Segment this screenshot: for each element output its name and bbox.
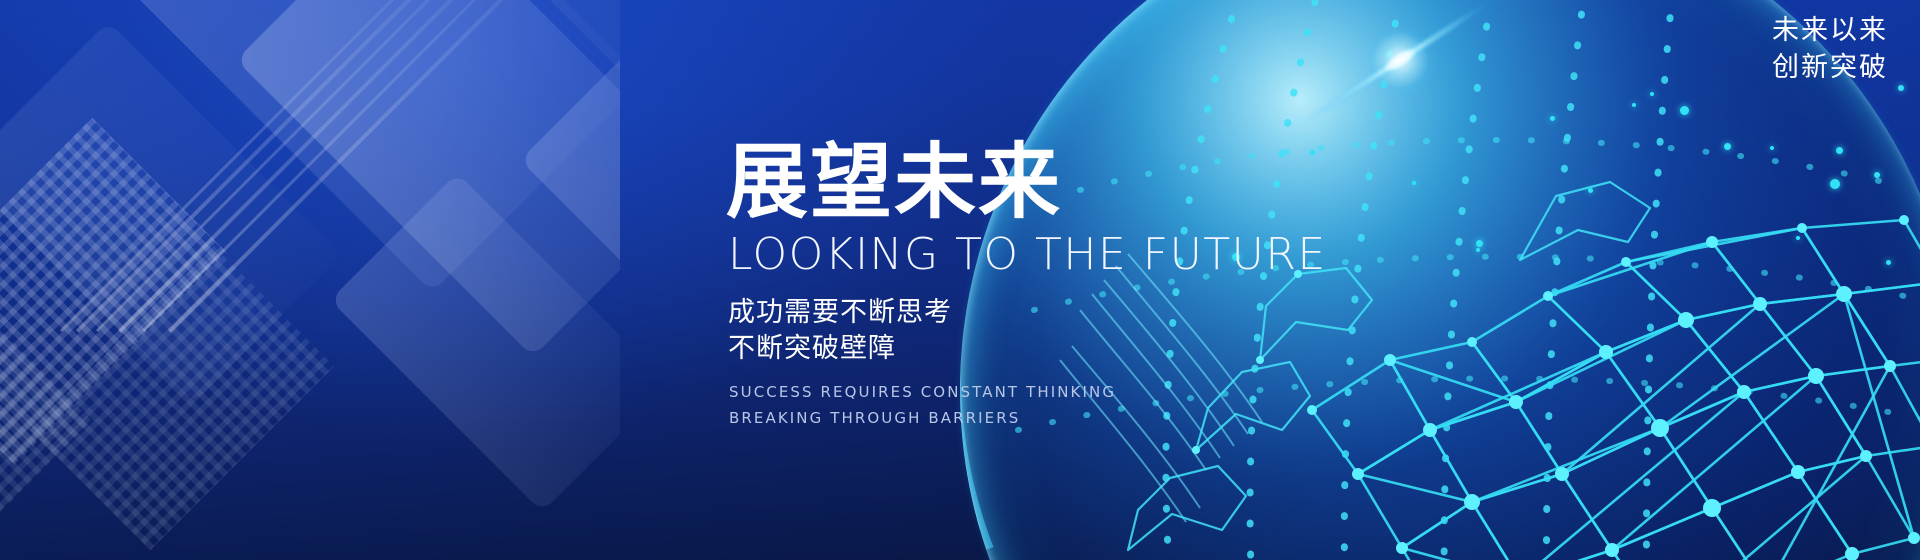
particle (1796, 236, 1800, 240)
geo-plate (236, 0, 620, 357)
description-chinese-line-1: 成功需要不断思考 (728, 294, 1486, 330)
diagonal-geometric-pattern (0, 0, 620, 560)
subtitle-english: LOOKING TO THE FUTURE (728, 231, 1486, 279)
particle (1836, 147, 1843, 154)
description-chinese-line-2: 不断突破壁障 (728, 330, 1486, 366)
hero-banner: 展望未来 LOOKING TO THE FUTURE 成功需要不断思考 不断突破… (0, 0, 1920, 560)
geo-bar (96, 0, 466, 332)
geo-bar (76, 0, 447, 333)
particle (1898, 85, 1904, 91)
corner-tagline-line-2: 创新突破 (1772, 49, 1888, 86)
particle (1680, 106, 1689, 115)
geo-plate (430, 0, 620, 135)
geo-plate (520, 12, 620, 415)
particle (1650, 92, 1654, 96)
geo-bar (168, 0, 539, 333)
geo-bar (118, 0, 489, 333)
particle (1886, 260, 1891, 265)
description-english-line-2: BREAKING THROUGH BARRIERS (729, 405, 1486, 431)
particle (1874, 172, 1880, 178)
geo-layer (0, 0, 620, 560)
geo-dot-grid (0, 118, 226, 464)
particle (1830, 179, 1840, 189)
particle (1632, 103, 1636, 107)
globe-flare-core (1371, 36, 1428, 84)
corner-tagline-line-1: 未来以来 (1772, 12, 1888, 49)
description-english-line-1: SUCCESS REQUIRES CONSTANT THINKING (729, 379, 1486, 405)
description-english: SUCCESS REQUIRES CONSTANT THINKING BREAK… (729, 379, 1486, 432)
particle (1550, 116, 1555, 121)
geo-bar (60, 0, 430, 332)
page-title: 展望未来 (726, 140, 1486, 225)
particle (1724, 143, 1731, 150)
geo-plate (0, 22, 342, 404)
corner-tagline: 未来以来 创新突破 (1772, 12, 1888, 87)
geo-plate (100, 0, 620, 292)
particle (1770, 146, 1774, 150)
geo-bar (142, 0, 512, 332)
geo-dot-grid (30, 246, 334, 550)
particle (1588, 188, 1593, 193)
description-chinese: 成功需要不断思考 不断突破壁障 (728, 294, 1486, 367)
geo-dot-grid (0, 314, 92, 560)
geo-plate (330, 173, 620, 512)
headline-block: 展望未来 LOOKING TO THE FUTURE 成功需要不断思考 不断突破… (726, 140, 1486, 431)
